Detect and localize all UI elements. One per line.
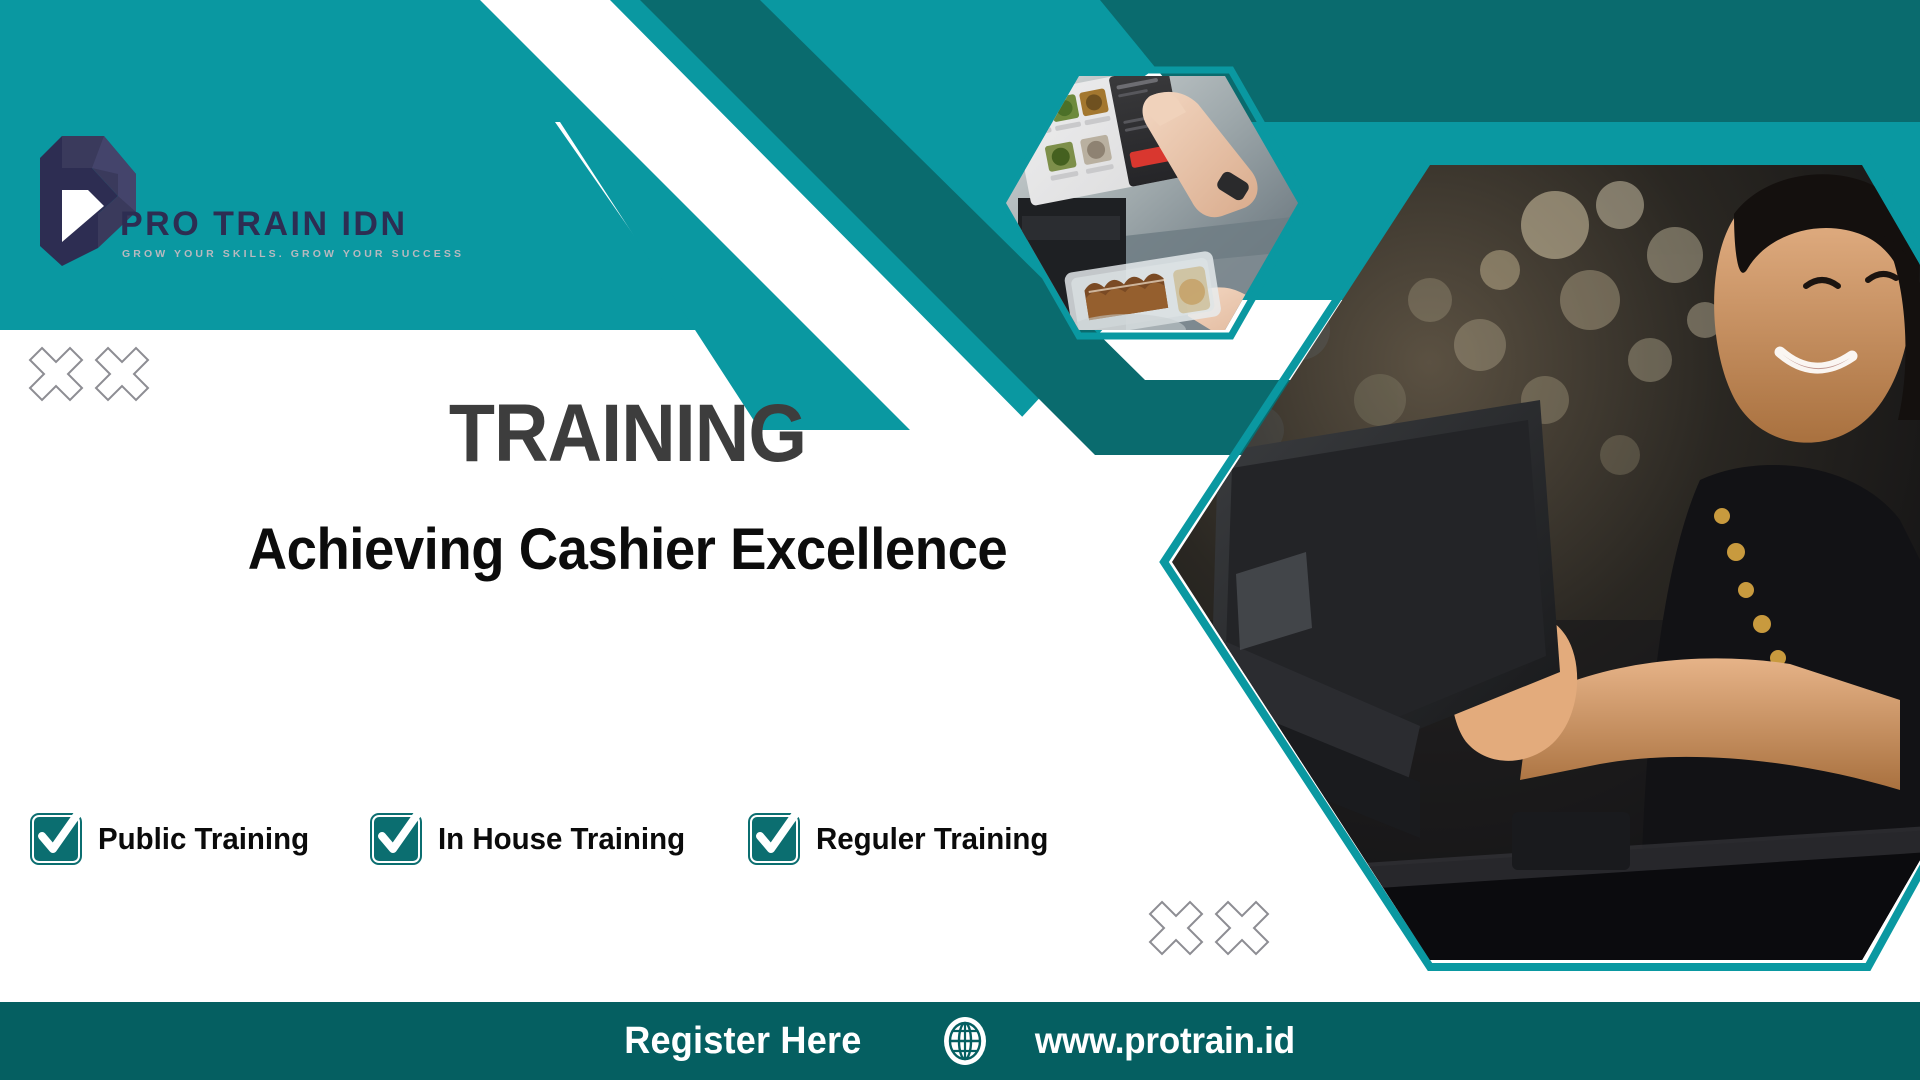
page-title: Achieving Cashier Excellence — [38, 516, 1218, 583]
check-icon — [747, 806, 805, 864]
option-label: Public Training — [98, 821, 309, 857]
globe-icon-glyph — [940, 1016, 990, 1066]
checkbox-in-house-training[interactable] — [372, 815, 420, 863]
checkbox-public-training[interactable] — [32, 815, 80, 863]
footer-bar: Register Here www.protrain.id — [0, 1002, 1920, 1080]
xx-outline-icon — [1148, 896, 1272, 960]
poster-canvas: PRO TRAIN IDN GROW YOUR SKILLS. GROW YOU… — [0, 0, 1920, 1080]
option-in-house-training[interactable]: In House Training — [372, 815, 698, 863]
check-icon — [29, 806, 87, 864]
option-public-training[interactable]: Public Training — [32, 815, 320, 863]
register-cta[interactable]: Register Here — [625, 1020, 862, 1063]
checkbox-reguler-training[interactable] — [750, 815, 798, 863]
check-icon — [369, 806, 427, 864]
option-reguler-training[interactable]: Reguler Training — [750, 815, 1061, 863]
website-url[interactable]: www.protrain.id — [1035, 1020, 1295, 1062]
decorative-xx-bottom — [1148, 896, 1272, 960]
option-label: In House Training — [438, 821, 685, 857]
globe-icon — [940, 1016, 990, 1066]
training-options: Public Training In House Training Regule… — [32, 815, 1061, 863]
training-kicker: TRAINING — [50, 387, 1205, 481]
brand-tagline: GROW YOUR SKILLS. GROW YOUR SUCCESS — [122, 248, 464, 260]
option-label: Reguler Training — [816, 821, 1048, 857]
brand-logo: PRO TRAIN IDN GROW YOUR SKILLS. GROW YOU… — [32, 120, 412, 300]
brand-name: PRO TRAIN IDN — [120, 205, 408, 244]
